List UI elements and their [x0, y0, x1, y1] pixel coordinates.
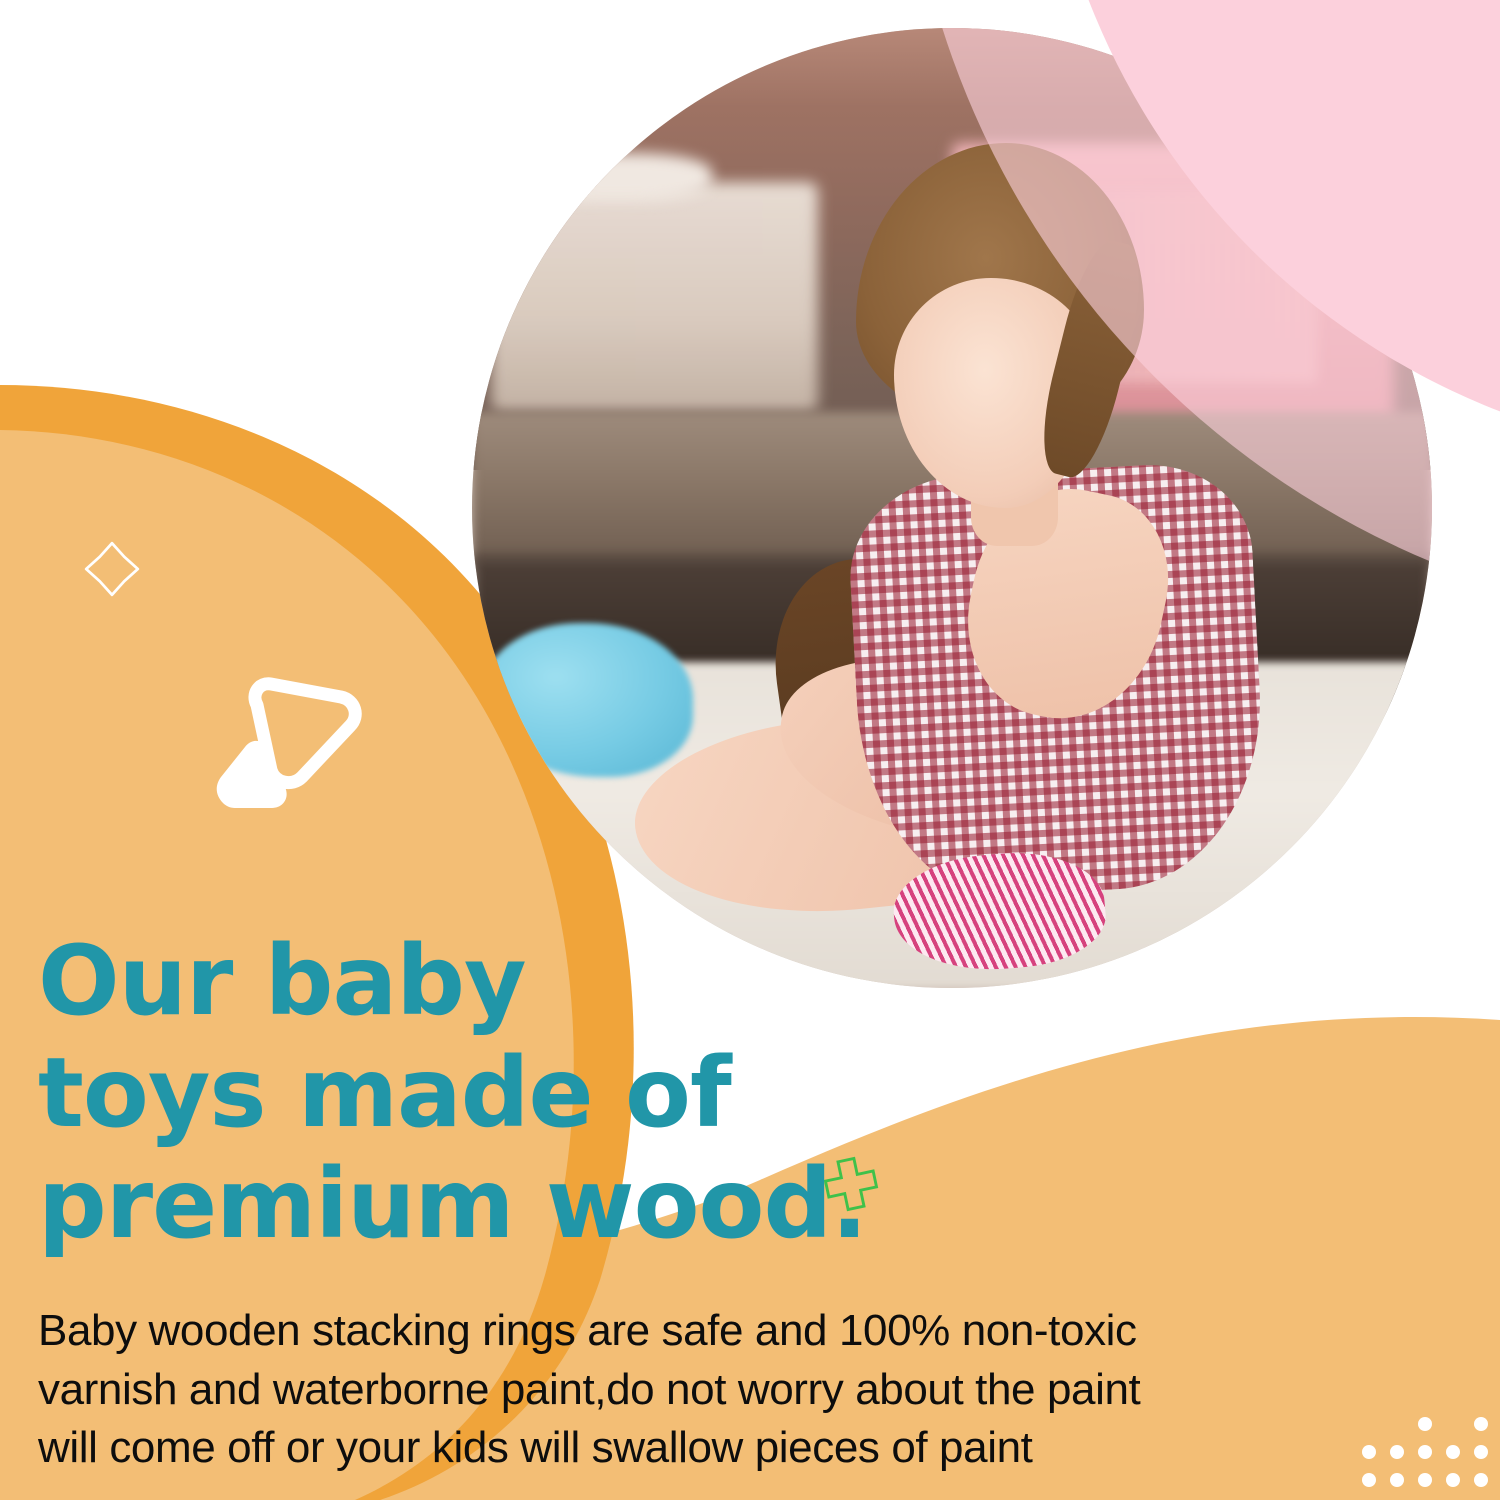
- dot-grid-decoration: [1355, 1410, 1495, 1500]
- triangle-outline-white-icon: [255, 684, 355, 783]
- body-copy: Baby wooden stacking rings are safe and …: [38, 1302, 1368, 1478]
- cross-outline-white-icon: [78, 535, 146, 603]
- headline-line-2: toys made of: [38, 1038, 918, 1149]
- headline-line-3: premium wood.: [38, 1149, 918, 1260]
- body-copy-line-3: will come off or your kids will swallow …: [38, 1419, 1368, 1478]
- headline: Our baby toys made of premium wood.: [38, 926, 918, 1260]
- body-copy-line-2: varnish and waterborne paint,do not worr…: [38, 1361, 1368, 1420]
- headline-line-1: Our baby: [38, 926, 918, 1037]
- triangle-decoration-group: [205, 675, 375, 820]
- poster-canvas: Our baby toys made of premium wood. Baby…: [0, 0, 1500, 1500]
- body-copy-line-1: Baby wooden stacking rings are safe and …: [38, 1302, 1368, 1361]
